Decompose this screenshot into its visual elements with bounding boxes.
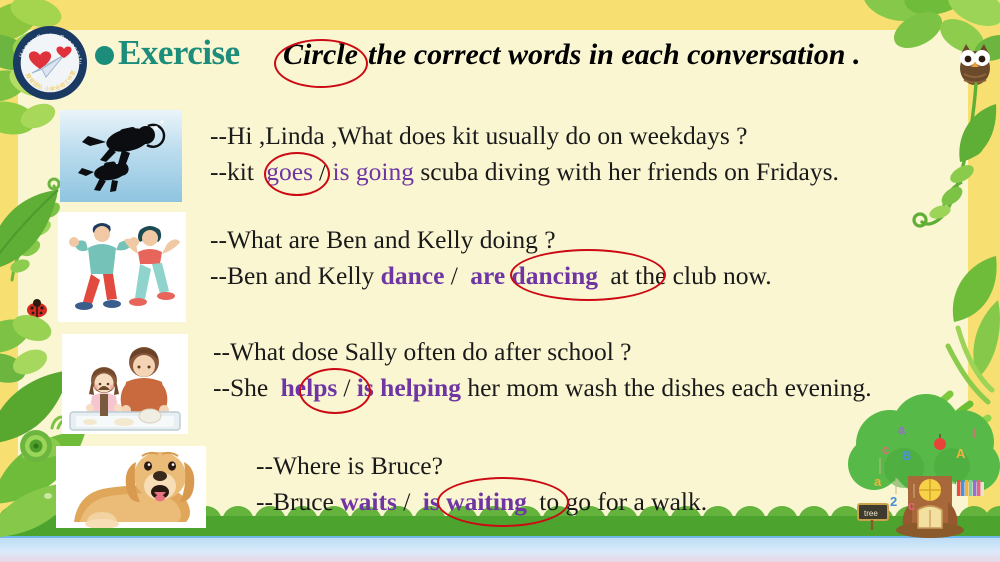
girl-and-mom-washing-dishes-illustration xyxy=(62,334,188,434)
leaf-big-left-icon xyxy=(0,186,64,276)
bullet-dot-icon xyxy=(95,46,114,65)
svg-text:B: B xyxy=(902,448,911,463)
instruction-line: Circle the correct words in each convers… xyxy=(277,38,861,72)
conv4-option-a[interactable]: waits xyxy=(340,487,397,516)
svg-text:a: a xyxy=(898,422,906,437)
conv1-question: --Hi ,Linda ,What does kit usually do on… xyxy=(210,118,839,154)
conv2-question: --What are Ben and Kelly doing ? xyxy=(210,222,772,258)
instruction-circled-word: Circle xyxy=(277,38,364,72)
conv1-answer: --kit goes/ is going scuba diving with h… xyxy=(210,154,839,190)
bottom-blue-band xyxy=(0,538,1000,562)
conversation-3: --What dose Sally often do after school … xyxy=(213,334,872,406)
conv4-option-b[interactable]: is waiting xyxy=(417,484,533,520)
treehouse-icon: a 2 c a B c A l tree xyxy=(834,398,1000,540)
treehouse-sign-label: tree xyxy=(864,509,878,518)
instruction-rest-text: the correct words in each conversation . xyxy=(368,38,861,71)
conv1-option-a[interactable]: goes xyxy=(260,154,319,190)
conv3-option-a[interactable]: helps xyxy=(275,370,344,406)
svg-text:A: A xyxy=(956,446,966,461)
conversation-1: --Hi ,Linda ,What does kit usually do on… xyxy=(210,118,839,190)
svg-text:c: c xyxy=(908,498,915,513)
conv4-answer: --Bruce waits / is waiting to go for a w… xyxy=(256,484,707,520)
exercise-label: Exercise xyxy=(118,33,240,73)
border-band-top xyxy=(0,0,1000,30)
conv2-answer: --Ben and Kelly dance / are dancing at t… xyxy=(210,258,772,294)
conv4-separator: / xyxy=(397,487,417,516)
scuba-divers-photo xyxy=(60,110,182,202)
golden-retriever-dog-photo xyxy=(56,446,206,528)
conv1-option-b[interactable]: is going xyxy=(333,157,414,186)
conv1-answer-prefix: --kit xyxy=(210,157,260,186)
conv4-question: --Where is Bruce? xyxy=(256,448,707,484)
conv2-option-a[interactable]: dance xyxy=(381,261,445,290)
conv3-answer-prefix: --She xyxy=(213,373,275,402)
conv3-answer: --She helps/ is helping her mom wash the… xyxy=(213,370,872,406)
svg-text:2: 2 xyxy=(890,494,897,509)
school-badge-logo: Happy Crazy Successful 教育团队 小学名师工作室 xyxy=(12,25,88,101)
conv2-separator: / xyxy=(444,261,464,290)
conv2-option-b[interactable]: are dancing xyxy=(464,258,604,294)
slide-canvas: a 2 c a B c A l tree xyxy=(0,0,1000,562)
svg-text:l: l xyxy=(972,426,976,441)
conv3-option-b[interactable]: is helping xyxy=(357,373,461,402)
conv2-answer-prefix: --Ben and Kelly xyxy=(210,261,381,290)
conv3-separator: / xyxy=(343,373,356,402)
dancing-couple-illustration xyxy=(58,212,186,322)
conv3-answer-suffix: her mom wash the dishes each evening. xyxy=(461,373,872,402)
conversation-2: --What are Ben and Kelly doing ? --Ben a… xyxy=(210,222,772,294)
svg-text:a: a xyxy=(874,474,882,489)
conv4-answer-suffix: to go for a walk. xyxy=(533,487,707,516)
conv4-answer-prefix: --Bruce xyxy=(256,487,340,516)
conv1-separator: / xyxy=(319,157,332,186)
conv1-answer-suffix: scuba diving with her friends on Fridays… xyxy=(414,157,839,186)
svg-text:c: c xyxy=(882,442,889,457)
conversation-4: --Where is Bruce? --Bruce waits / is wai… xyxy=(256,448,707,520)
conv3-question: --What dose Sally often do after school … xyxy=(213,334,872,370)
exercise-heading: Exercise xyxy=(95,33,240,73)
conv2-answer-suffix: at the club now. xyxy=(604,261,772,290)
